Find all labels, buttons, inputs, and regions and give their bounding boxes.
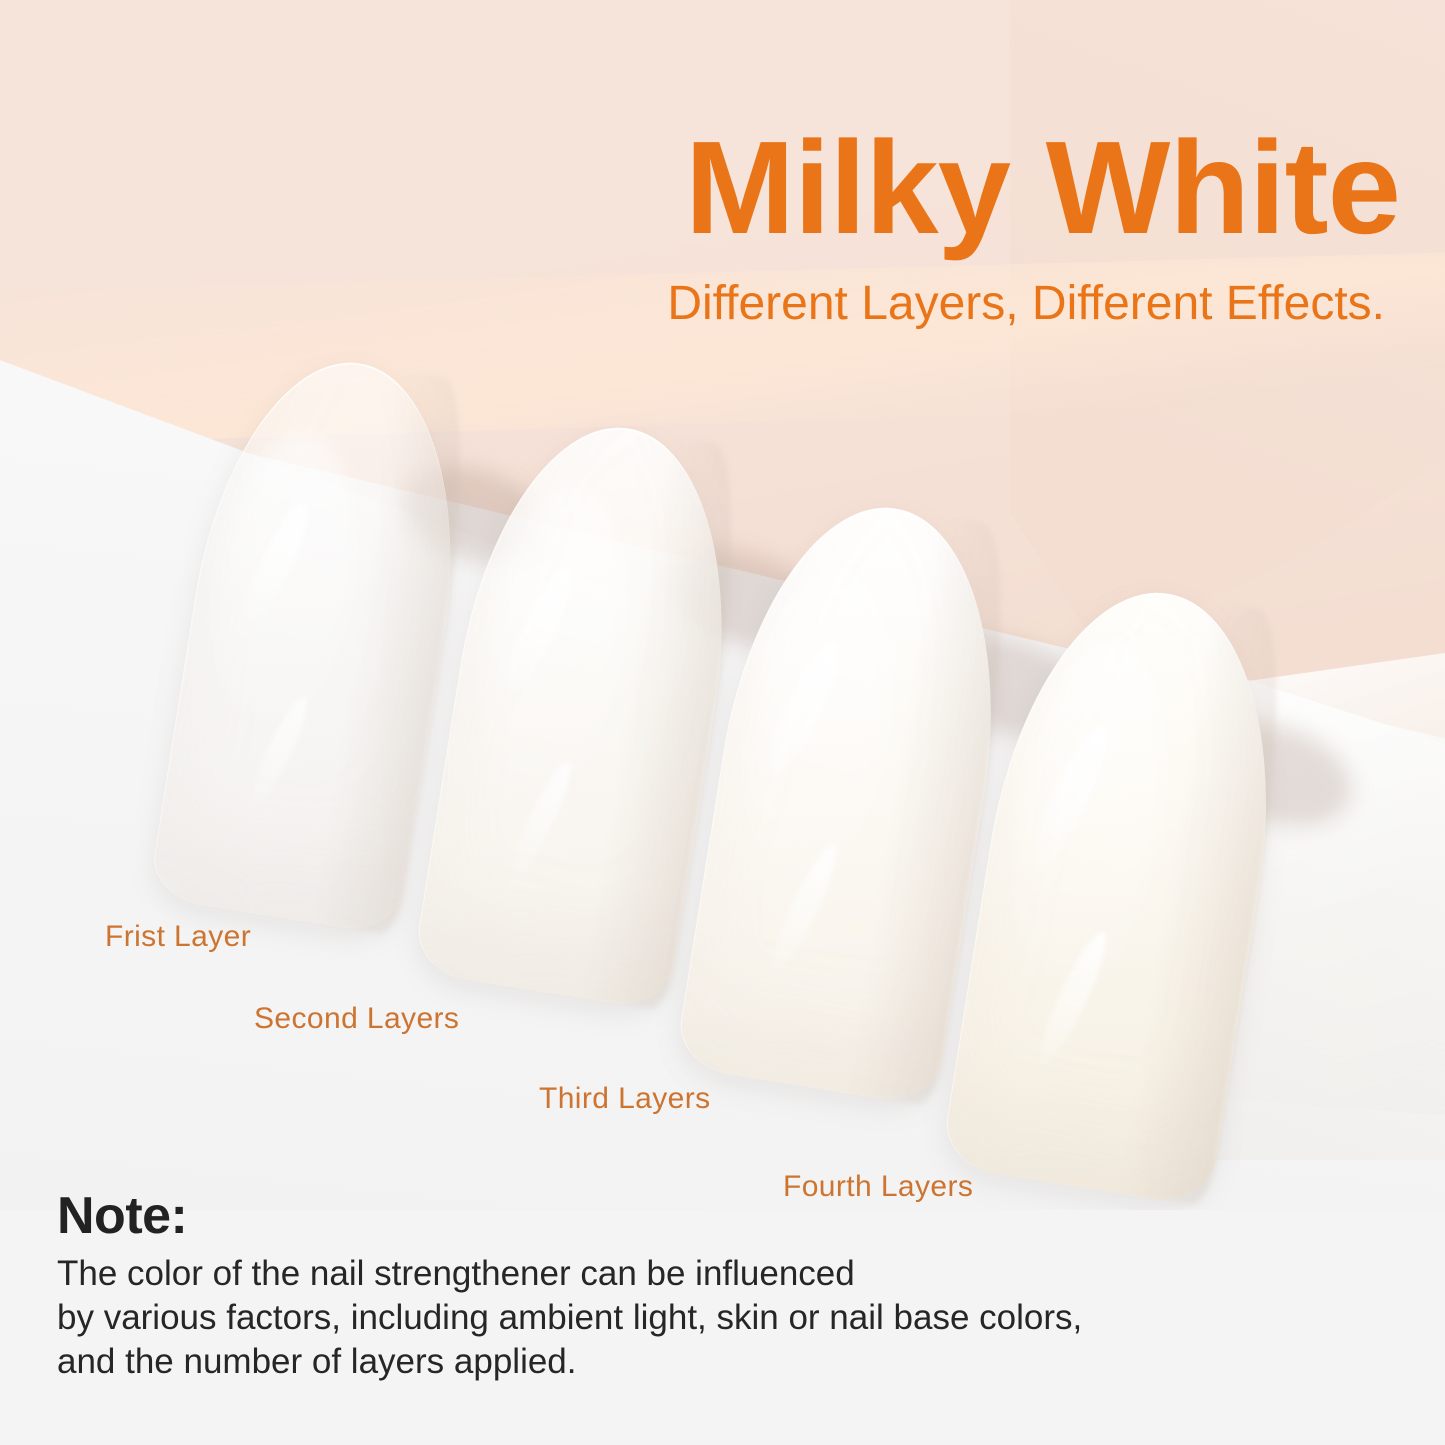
note-block: Note: The color of the nail strengthener… (57, 1190, 1397, 1384)
swatch-label-layer-2: Second Layers (254, 1002, 459, 1036)
swatch-label-layer-1: Frist Layer (105, 920, 251, 954)
note-line-1: The color of the nail strengthener can b… (57, 1252, 1397, 1296)
note-title: Note: (57, 1190, 1397, 1242)
page-title: Milky White (0, 122, 1400, 254)
note-line-2: by various factors, including ambient li… (57, 1296, 1397, 1340)
product-infographic: Milky White Different Layers, Different … (0, 0, 1445, 1445)
swatch-label-layer-3: Third Layers (539, 1082, 711, 1116)
note-body: The color of the nail strengthener can b… (57, 1252, 1397, 1384)
page-subtitle: Different Layers, Different Effects. (0, 278, 1385, 331)
note-line-3: and the number of layers applied. (57, 1340, 1397, 1384)
